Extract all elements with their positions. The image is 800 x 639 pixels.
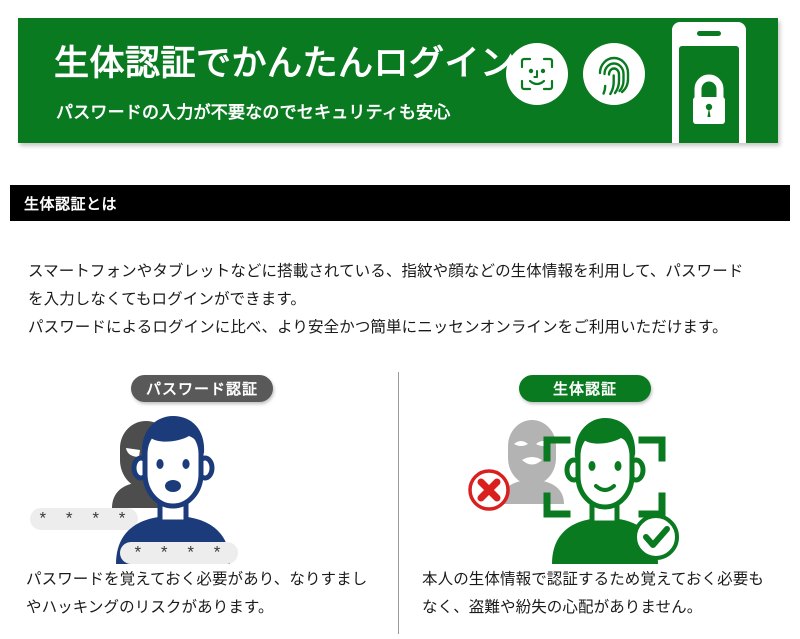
password-auth-column: パスワード認証: [8, 368, 398, 639]
reject-badge-icon: [470, 471, 508, 509]
biometric-auth-illustration: [404, 412, 794, 564]
password-auth-caption: パスワードを覚えておく必要があり、なりすまし やハッキングのリスクがあります。: [26, 566, 382, 622]
intro-line-2: を入力しなくてもログインができます。: [28, 286, 776, 314]
password-auth-caption-line-2: やハッキングのリスクがあります。: [26, 594, 382, 622]
biometric-auth-column: 生体認証: [404, 368, 794, 639]
hero-title: 生体認証でかんたんログイン: [54, 46, 516, 81]
hero-subtitle: パスワードの入力が不要なのでセキュリティも安心: [56, 104, 451, 121]
comparison-section: パスワード認証: [0, 368, 800, 639]
password-auth-caption-line-1: パスワードを覚えておく必要があり、なりすまし: [26, 566, 382, 594]
biometric-auth-caption-line-2: なく、盗難や紛失の心配がありません。: [422, 594, 778, 622]
user-password-mask: * * * *: [133, 545, 225, 564]
fingerprint-icon: [583, 43, 645, 105]
section-heading-bar: 生体認証とは: [10, 185, 790, 221]
biometric-auth-caption: 本人の生体情報で認証するため覚えておく必要も なく、盗難や紛失の心配がありません…: [422, 566, 778, 622]
biometric-auth-badge: 生体認証: [519, 375, 651, 402]
password-auth-badge: パスワード認証: [131, 375, 273, 402]
intro-line-1: スマートフォンやタブレットなどに搭載されている、指紋や顔などの生体情報を利用して…: [28, 258, 776, 286]
phone-lock-icon: [666, 18, 766, 143]
password-auth-illustration: * * * *: [8, 412, 398, 564]
biometric-auth-caption-line-1: 本人の生体情報で認証するため覚えておく必要も: [422, 566, 778, 594]
column-divider: [398, 372, 399, 634]
section-heading-label: 生体認証とは: [10, 193, 117, 214]
intro-paragraph: スマートフォンやタブレットなどに搭載されている、指紋や顔などの生体情報を利用して…: [28, 258, 776, 342]
approve-badge-icon: [635, 516, 677, 558]
face-id-icon: [506, 43, 568, 105]
hero-icon-group: [488, 18, 778, 143]
hero-banner: 生体認証でかんたんログイン パスワードの入力が不要なのでセキュリティも安心: [18, 18, 778, 143]
thief-password-mask: * * * *: [38, 511, 130, 530]
intro-line-3: パスワードによるログインに比べ、より安全かつ簡単にニッセンオンラインをご利用いた…: [28, 314, 776, 342]
